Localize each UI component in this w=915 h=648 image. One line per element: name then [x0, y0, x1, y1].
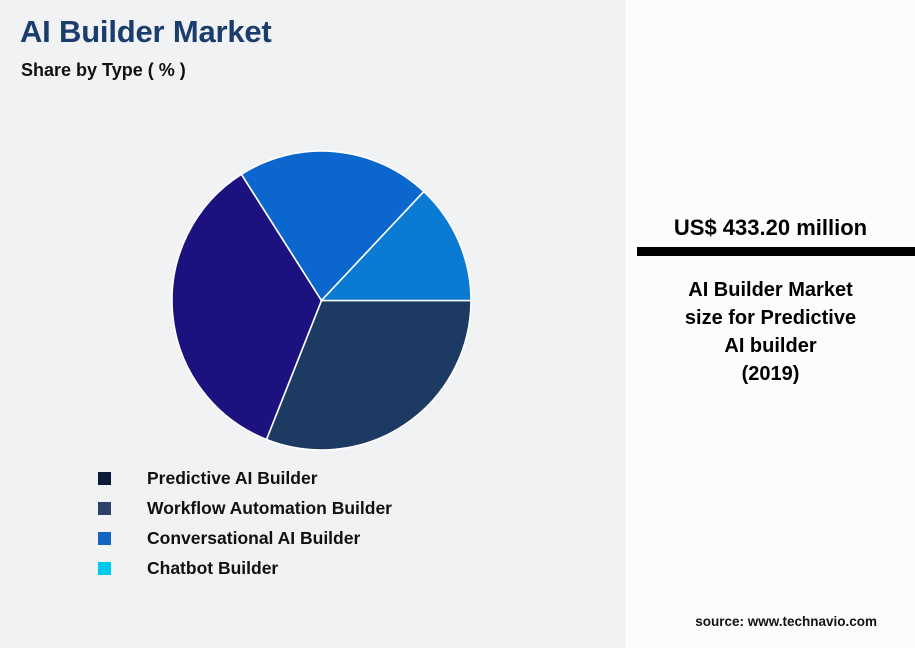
kpi-description-line: size for Predictive — [626, 304, 915, 332]
kpi-description-line: AI Builder Market — [626, 276, 915, 304]
legend-swatch-icon — [98, 532, 111, 545]
legend-item-label: Chatbot Builder — [147, 558, 278, 579]
chart-legend: Predictive AI BuilderWorkflow Automation… — [98, 463, 598, 583]
legend-item[interactable]: Predictive AI Builder — [98, 463, 598, 493]
pie-chart — [170, 149, 473, 452]
legend-item[interactable]: Chatbot Builder — [98, 553, 598, 583]
source-attribution: source: www.technavio.com — [626, 614, 915, 629]
legend-swatch-icon — [98, 562, 111, 575]
kpi-description: AI Builder Marketsize for PredictiveAI b… — [626, 276, 915, 388]
kpi-description-line: AI builder — [626, 332, 915, 360]
legend-swatch-icon — [98, 502, 111, 515]
pie-chart-svg — [170, 149, 473, 452]
legend-item[interactable]: Conversational AI Builder — [98, 523, 598, 553]
kpi-value: US$ 433.20 million — [626, 215, 915, 241]
legend-item[interactable]: Workflow Automation Builder — [98, 493, 598, 523]
infographic-root: AI Builder Market Share by Type ( % ) Pr… — [0, 0, 915, 648]
legend-item-label: Conversational AI Builder — [147, 528, 360, 549]
kpi-description-line: (2019) — [626, 360, 915, 388]
kpi-panel: US$ 433.20 million AI Builder Marketsize… — [626, 0, 915, 648]
legend-item-label: Workflow Automation Builder — [147, 498, 392, 519]
kpi-divider-rule — [637, 247, 915, 256]
page-title: AI Builder Market — [20, 14, 272, 50]
panel-divider — [626, 0, 628, 648]
legend-item-label: Predictive AI Builder — [147, 468, 318, 489]
chart-panel: AI Builder Market Share by Type ( % ) Pr… — [0, 0, 626, 648]
chart-subtitle: Share by Type ( % ) — [21, 60, 186, 81]
legend-swatch-icon — [98, 472, 111, 485]
pie-slice-group — [172, 151, 471, 450]
